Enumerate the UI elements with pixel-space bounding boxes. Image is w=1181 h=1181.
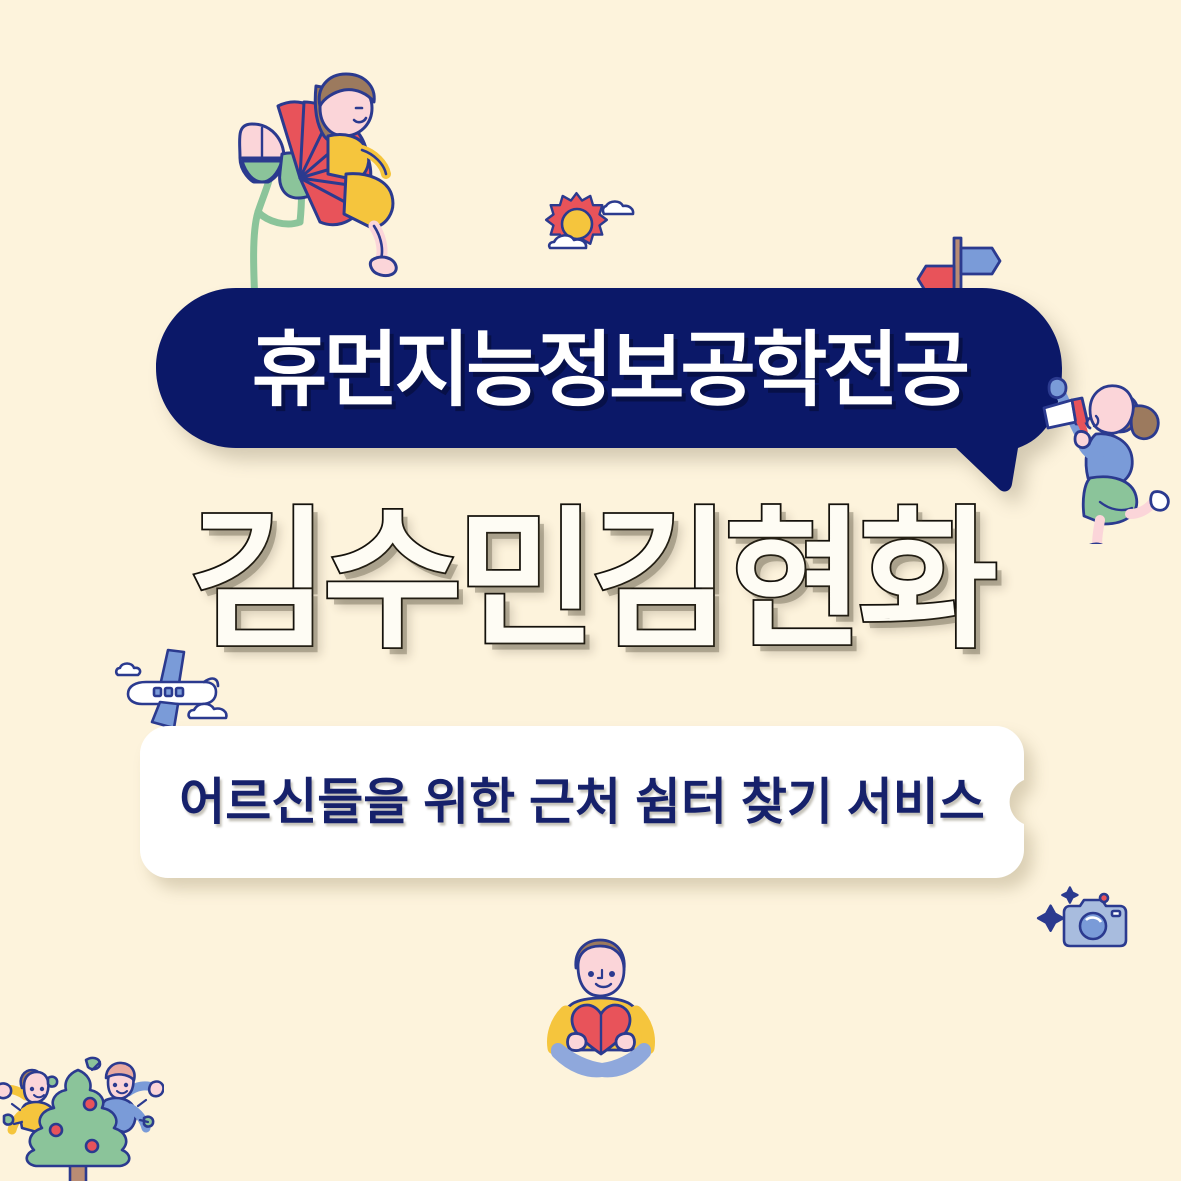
- sun-clouds-icon: [540, 180, 652, 264]
- camera-icon: [1036, 884, 1144, 958]
- department-banner: 휴먼지능정보공학전공: [156, 288, 1062, 493]
- page-title-text: 김수민김현화: [189, 505, 992, 657]
- poster-canvas: 휴먼지능정보공학전공 김수민김현화 어르신들을 위한 근처 쉼터 찾기 서비스: [0, 0, 1181, 1181]
- tree-people-illustration: [0, 1048, 164, 1181]
- subtitle-card-label: 어르신들을 위한 근처 쉼터 찾기 서비스: [140, 726, 1024, 878]
- subtitle-card: 어르신들을 위한 근처 쉼터 찾기 서비스: [140, 726, 1060, 878]
- page-title: 김수민김현화: [0, 496, 1181, 666]
- heart-person-illustration: [532, 932, 662, 1078]
- department-banner-label: 휴먼지능정보공학전공: [156, 288, 1062, 448]
